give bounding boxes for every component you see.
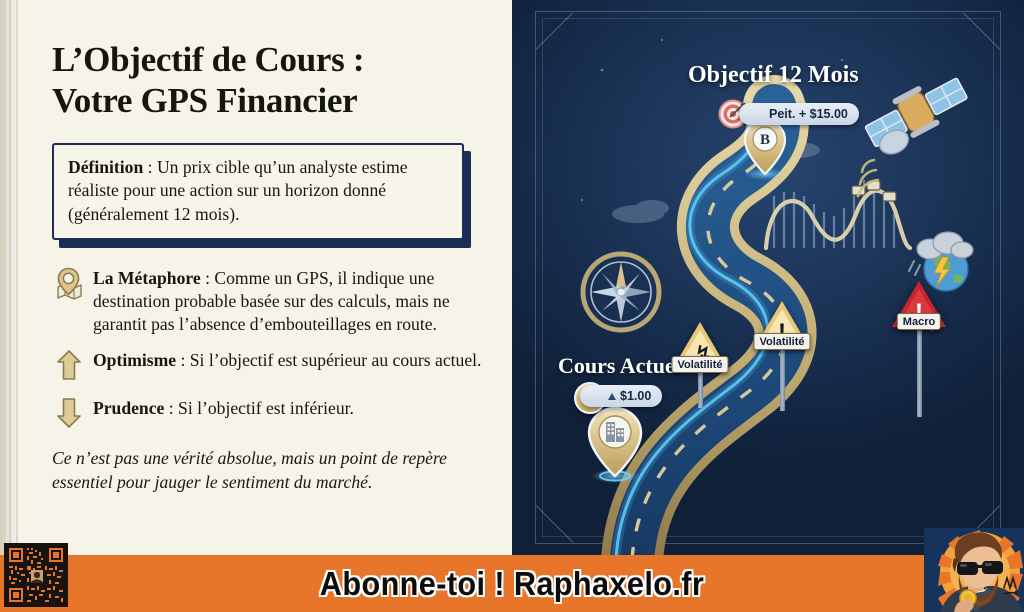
definition-label: Définition	[68, 157, 143, 177]
sign-plate-label: Volatilité	[753, 333, 810, 350]
current-price-value: $1.00	[620, 389, 651, 403]
destination-marker-pin: B	[745, 120, 785, 180]
left-text-panel: L’Objectif de Cours : Votre GPS Financie…	[0, 0, 512, 555]
bullet-body-prudence: Si l’objectif est inférieur.	[178, 398, 354, 418]
sign-plate-label: Macro	[897, 313, 941, 330]
title-line-1: L’Objectif de Cours :	[52, 40, 364, 79]
subscribe-cta[interactable]: Abonne-toi ! Raphaxelo.fr	[36, 555, 988, 612]
footer-bar: Abonne-toi ! Raphaxelo.fr	[0, 555, 1024, 612]
illustration-panel: B Objectif 12 Mois Peit. + $15.00 Cours …	[512, 0, 1024, 555]
bullet-label-optimisme: Optimisme	[93, 350, 176, 370]
qr-code-matrix	[7, 546, 65, 604]
list-item-prudence: Prudence : Si l’objectif est inférieur.	[52, 396, 486, 431]
qr-code[interactable]	[4, 543, 68, 607]
slide-root: L’Objectif de Cours : Votre GPS Financie…	[0, 0, 1024, 612]
bullet-body-optimisme: Si l’objectif est supérieur au cours act…	[190, 350, 482, 370]
map-pin-icon	[52, 267, 86, 301]
definition-box: Définition : Un prix cible qu’un analyst…	[52, 143, 464, 240]
list-item-optimisme: Optimisme : Si l’objectif est supérieur …	[52, 348, 486, 383]
list-item-text: Optimisme : Si l’objectif est supérieur …	[93, 348, 486, 372]
definition-separator: :	[143, 157, 157, 177]
closing-note: Ce n’est pas une vérité absolue, mais un…	[52, 447, 464, 494]
arrow-down-icon	[52, 397, 86, 431]
list-item-text: La Métaphore : Comme un GPS, il indique …	[93, 266, 486, 336]
volatility-sign-right: ! Volatilité	[755, 301, 809, 347]
destination-marker-label: B	[760, 132, 770, 148]
building-marker-pin	[589, 408, 641, 483]
objective-price-badge: Peit. + $15.00	[739, 103, 859, 125]
satellite-icon	[858, 68, 972, 196]
title-line-2: Votre GPS Financier	[52, 81, 486, 122]
bullet-label-prudence: Prudence	[93, 398, 164, 418]
volatility-sign-left: ↯ Volatilité	[673, 322, 727, 368]
roller-coaster-icon	[766, 180, 910, 248]
page-title: L’Objectif de Cours : Votre GPS Financie…	[52, 40, 486, 121]
sign-plate-label: Volatilité	[671, 356, 728, 373]
bullet-sep-metaphore: :	[201, 268, 215, 288]
triangle-up-icon	[608, 393, 616, 400]
bullet-list: La Métaphore : Comme un GPS, il indique …	[52, 266, 486, 432]
avatar	[924, 528, 1024, 612]
avatar-image	[924, 528, 1024, 612]
definition-callout: Définition : Un prix cible qu’un analyst…	[52, 143, 464, 240]
arrow-up-icon	[52, 349, 86, 383]
bullet-sep-optimisme: :	[176, 350, 190, 370]
compass-rose-icon	[581, 252, 661, 332]
macro-sign: ! Macro	[892, 281, 946, 327]
objective-label: Objectif 12 Mois	[688, 62, 859, 89]
current-price-label: Cours Actuel	[558, 353, 681, 379]
current-price-badge: $1.00	[580, 385, 662, 407]
list-item-text: Prudence : Si l’objectif est inférieur.	[93, 396, 486, 420]
bullet-label-metaphore: La Métaphore	[93, 268, 201, 288]
list-item-metaphore: La Métaphore : Comme un GPS, il indique …	[52, 266, 486, 336]
bullet-sep-prudence: :	[164, 398, 178, 418]
